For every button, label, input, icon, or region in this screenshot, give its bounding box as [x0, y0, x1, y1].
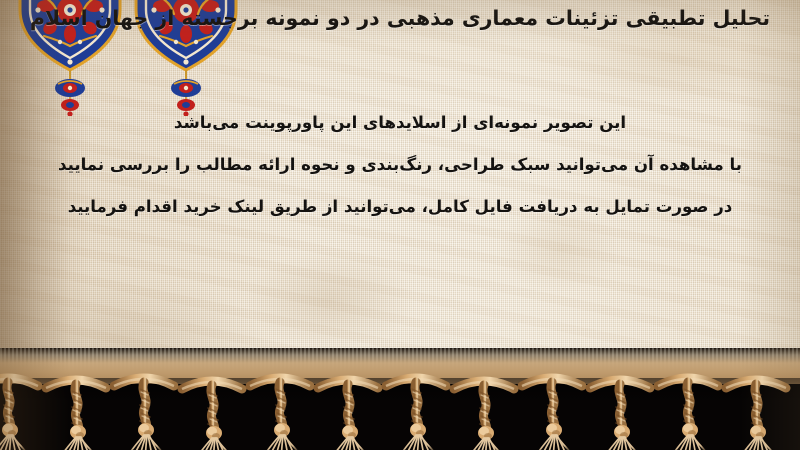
body-line: با مشاهده آن می‌توانید سبک طراحی، رنگ‌بن…	[0, 154, 800, 175]
body-line: این تصویر نمونه‌ای از اسلایدهای این پاور…	[0, 112, 800, 133]
fringe-tassel-strands	[0, 348, 800, 450]
slide-title: تحلیل تطبیقی تزئینات معماری مذهبی در دو …	[8, 3, 792, 34]
carpet-fringe-tassels	[0, 348, 800, 450]
slide-body: این تصویر نمونه‌ای از اسلایدهای این پاور…	[0, 112, 800, 238]
presentation-slide: تحلیل تطبیقی تزئینات معماری مذهبی در دو …	[0, 0, 800, 450]
slide-text-layer: تحلیل تطبیقی تزئینات معماری مذهبی در دو …	[0, 0, 800, 372]
body-line: در صورت تمایل به دریافت فایل کامل، می‌تو…	[0, 196, 800, 217]
